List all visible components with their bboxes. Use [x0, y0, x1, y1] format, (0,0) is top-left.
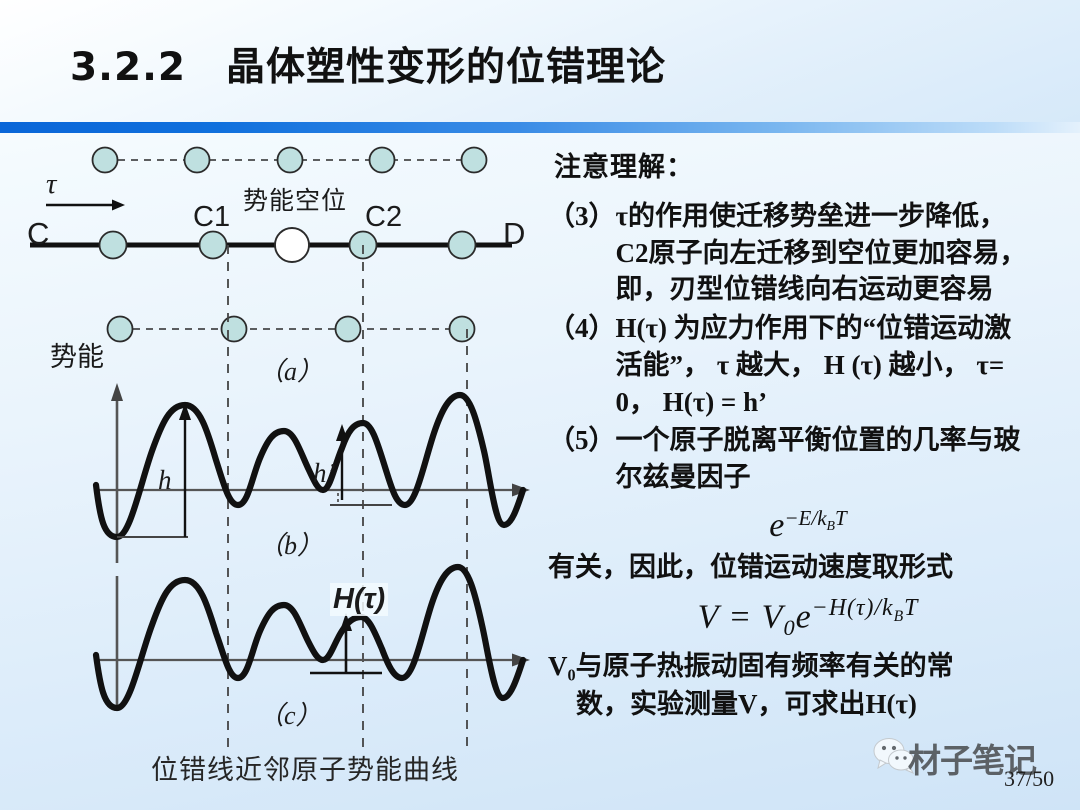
note-marker-3: （3） — [548, 198, 616, 308]
h-prime-label: h’ — [313, 458, 336, 489]
note-4-line-3: 0， H(τ) = h’ — [616, 387, 768, 417]
vacancy-site — [275, 228, 309, 262]
potential-energy-figure: τ C D 势能空位 C1 C2 势能 （a） （b） （c） h h’ H(τ… — [0, 133, 540, 810]
lattice-row-middle — [30, 228, 512, 262]
slide-header: 3.2.2晶体塑性变形的位错理论 — [0, 0, 1080, 122]
note-marker-5: （5） — [548, 422, 616, 495]
note-item-3: （3） τ的作用使迁移势垒进一步降低， C2原子向左迁移到空位更加容易， 即，刃… — [548, 198, 1068, 308]
panel-a-label: （a） — [258, 351, 323, 388]
slide-root: 3.2.2晶体塑性变形的位错理论 — [0, 0, 1080, 810]
tau-label: τ — [46, 168, 56, 201]
page-number: 37/50 — [1004, 766, 1054, 792]
notes-heading: 注意理解： — [554, 145, 1068, 184]
tail-line-1: V₀与原子热振动固有频率有关的常 — [548, 647, 1068, 685]
label-c1: C1 — [193, 201, 230, 234]
tau-arrow — [46, 200, 125, 211]
note-4-line-2: 活能”， τ 越大， H (τ) 越小， τ= — [616, 350, 1005, 380]
H-tau-label: H(τ) — [330, 583, 388, 616]
note-3-line-2: C2原子向左迁移到空位更加容易， — [616, 238, 1027, 268]
h-label: h — [158, 465, 172, 496]
note-4-line-1: H(τ) 为应力作用下的“位错运动激 — [616, 313, 1012, 343]
page-title: 3.2.2晶体塑性变形的位错理论 — [70, 36, 666, 92]
panel-c-label: （c） — [258, 695, 322, 732]
label-c2: C2 — [365, 201, 402, 234]
after-boltzmann-text: 有关，因此，位错运动速度取形式 — [548, 549, 1068, 587]
tail-line-2: 数，实验测量V，可求出H(τ) — [576, 685, 1068, 723]
lattice-row-bottom — [108, 317, 475, 342]
title-text: 晶体塑性变形的位错理论 — [226, 45, 666, 90]
y-axis-label-potential: 势能 — [50, 335, 104, 374]
tail-text: V₀与原子热振动固有频率有关的常 数，实验测量V，可求出H(τ) — [548, 647, 1068, 724]
equation-boltzmann: e−E/kBT — [548, 506, 1068, 545]
note-3-line-3: 即，刃型位错线向右运动更容易 — [616, 274, 994, 304]
note-3-line-1: τ的作用使迁移势垒进一步降低， — [616, 201, 1006, 231]
header-accent-rule — [0, 122, 1080, 133]
equation-velocity: V = V0e−H(τ)/kBT — [548, 595, 1068, 641]
note-item-5: （5） 一个原子脱离平衡位置的几率与玻 尔兹曼因子 — [548, 422, 1068, 495]
lattice-row-top — [93, 148, 487, 173]
figure-caption: 位错线近邻原子势能曲线 — [140, 748, 470, 787]
panel-c-plot — [96, 567, 530, 708]
label-d-right: D — [503, 216, 525, 252]
panel-b-label: （b） — [258, 525, 323, 562]
label-c-left: C — [27, 216, 49, 252]
note-marker-4: （4） — [548, 310, 616, 420]
notes-column: 注意理解： （3） τ的作用使迁移势垒进一步降低， C2原子向左迁移到空位更加容… — [548, 145, 1068, 745]
note-5-line-2: 尔兹曼因子 — [616, 462, 751, 492]
note-5-line-1: 一个原子脱离平衡位置的几率与玻 — [616, 425, 1021, 455]
vacancy-label: 势能空位 — [243, 181, 347, 217]
title-number: 3.2.2 — [70, 45, 186, 90]
note-item-4: （4） H(τ) 为应力作用下的“位错运动激 活能”， τ 越大， H (τ) … — [548, 310, 1068, 420]
